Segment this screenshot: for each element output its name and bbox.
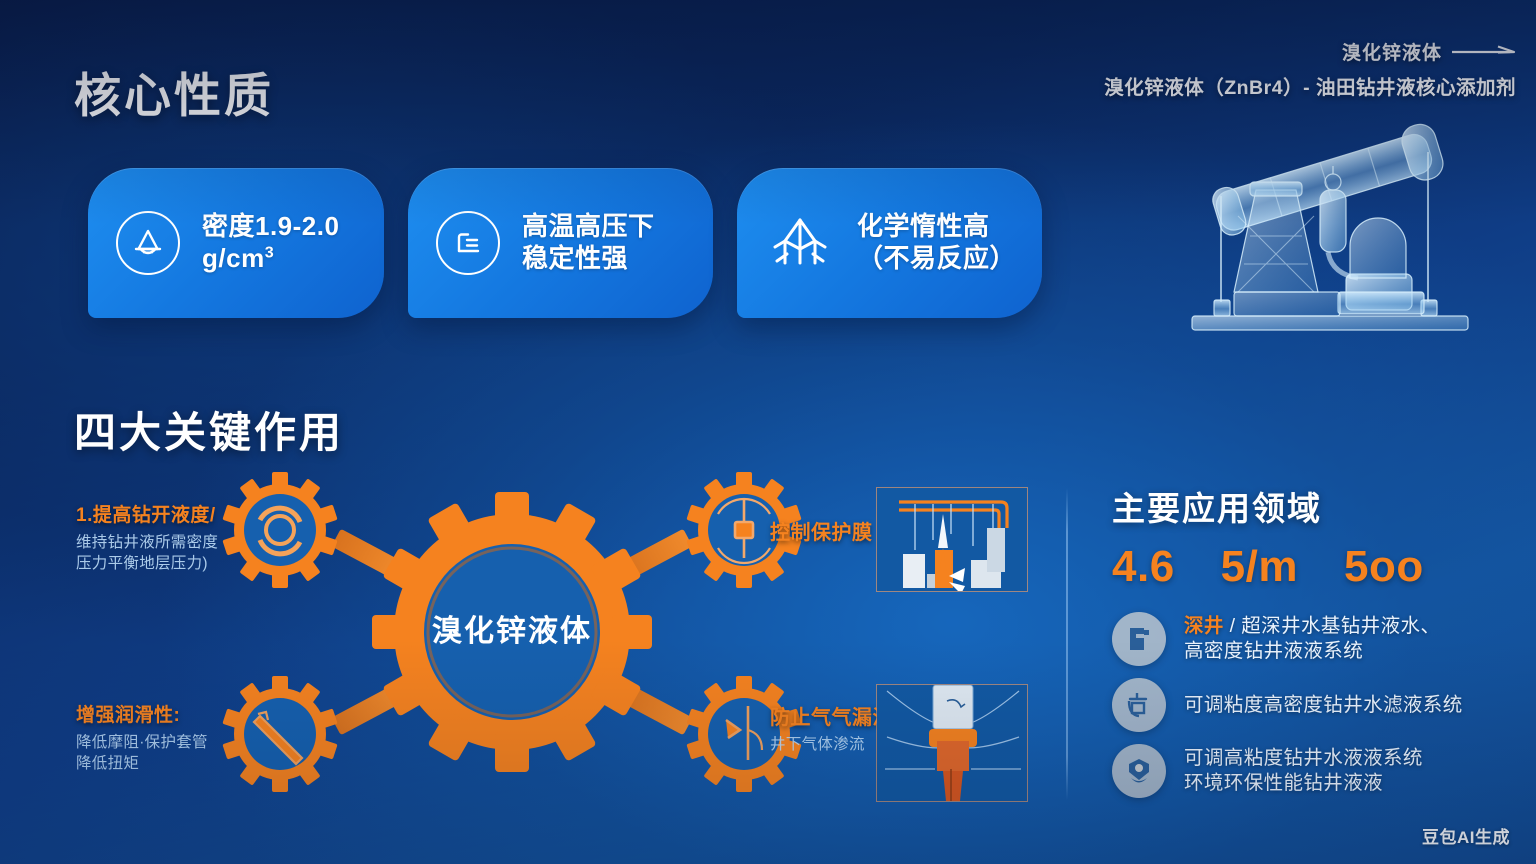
molecule-shield-icon [765,208,835,278]
header-block: 溴化锌液体 溴化锌液体（ZnBr4）- 油田钻井液核心添加剂 [1104,38,1516,100]
application-panel: 主要应用领域 4.6 5/m 5oo 深井 / 超深井水基钻井液水、 高密度 [1112,482,1512,798]
gear-label-1-title: 1.提高钻开液度/ [76,505,218,528]
page-title: 核心性质 [74,57,274,126]
gear-label-1-sub-line1: 维持钻井液所需密度 [76,533,218,554]
property-card-inert[interactable]: 化学惰性高 （不易反应） [737,168,1042,318]
thermal-line-2: 稳定性强 [522,243,655,275]
gear-label-1: 1.提高钻开液度/ 维持钻井液所需密度 压力平衡地层压力) [76,505,218,574]
application-item[interactable]: 可调高粘度钻井水液液系统 环境环保性能钻井液液 [1112,744,1512,798]
application-panel-divider [1066,488,1068,800]
application-item-highlight: 深井 [1184,615,1224,637]
property-card-density[interactable]: 密度1.9-2.0 g/cm3 [88,168,384,318]
gear-label-2-sub-line1: 降低摩阻·保护套管 [76,733,208,754]
eco-shield-icon [1112,744,1166,798]
inert-line-1: 化学惰性高 [857,211,1012,243]
application-item-line1: 可调高粘度钻井水液液系统 [1184,746,1423,771]
infographic-slide: 核心性质 溴化锌液体 溴化锌液体（ZnBr4）- 油田钻井液核心添加剂 [0,0,1536,864]
application-item-line1: / 超深井水基钻井液水、 [1224,615,1440,637]
center-gear: 溴化锌液体 [372,492,652,772]
center-gear-label: 溴化锌液体 [432,615,592,648]
property-card-list: 密度1.9-2.0 g/cm3 高温高压下 稳定性强 [88,168,1042,318]
application-item-text: 可调高粘度钻井水液液系统 环境环保性能钻井液液 [1184,746,1423,796]
droplet-bell-icon [116,211,180,275]
application-stats: 4.6 5/m 5oo [1112,542,1512,592]
application-item-line2: 高密度钻井液液系统 [1184,639,1440,664]
thermal-line-1: 高温高压下 [522,211,655,243]
application-item-list: 深井 / 超深井水基钻井液水、 高密度钻井液液系统 可调粘度高密度钻井水滤液系统 [1112,612,1512,798]
property-card-thermal[interactable]: 高温高压下 稳定性强 [408,168,713,318]
gear-node-1 [222,472,337,588]
tech-panel-1 [876,487,1028,592]
property-card-inert-text: 化学惰性高 （不易反应） [857,211,1012,274]
gear-label-4-sub: 井下气体渗流 [770,735,893,756]
gear-label-4: 防止气气漏浇 井下气体渗流 [770,706,893,756]
gear-label-3: 控制保护膜 [770,521,873,545]
tech-panel-2 [876,684,1028,802]
gear-label-2-sub-line2: 降低扭矩 [76,754,208,775]
property-card-density-text: 密度1.9-2.0 g/cm3 [202,211,354,274]
gear-label-2-sub: 降低摩阻·保护套管 降低扭矩 [76,733,208,775]
application-item-text: 可调粘度高密度钻井水滤液系统 [1184,693,1463,718]
header-brand-row: 溴化锌液体 [1104,38,1516,65]
section-title: 四大关键作用 [74,399,344,460]
application-panel-title: 主要应用领域 [1112,482,1512,530]
arrow-right-icon [1452,45,1516,59]
application-item[interactable]: 深井 / 超深井水基钻井液水、 高密度钻井液液系统 [1112,612,1512,666]
application-stat-3: 5oo [1344,542,1424,592]
drill-rig-icon [1112,612,1166,666]
property-card-thermal-text: 高温高压下 稳定性强 [522,211,655,274]
gear-label-3-title: 控制保护膜 [770,521,873,545]
inert-line-2: （不易反应） [857,243,1012,275]
application-item-text: 深井 / 超深井水基钻井液水、 高密度钻井液液系统 [1184,614,1440,664]
watermark: 豆包AI生成 [1422,823,1510,848]
density-meter-icon [1112,678,1166,732]
gear-label-1-sub: 维持钻井液所需密度 压力平衡地层压力) [76,533,218,575]
gear-label-1-sub-line2: 压力平衡地层压力) [76,554,218,575]
gear-node-2 [222,676,337,792]
application-item-line1: 可调粘度高密度钻井水滤液系统 [1184,693,1463,718]
gear-label-2-title: 增强润滑性: [76,705,208,728]
thermometer-pressure-icon [436,211,500,275]
header-brand: 溴化锌液体 [1342,38,1442,65]
application-stat-2: 5/m [1221,542,1298,592]
pumpjack-illustration [1178,96,1514,344]
gear-label-4-title: 防止气气漏浇 [770,706,893,730]
gear-diagram: 溴化锌液体 [222,462,802,802]
density-exponent: 3 [265,243,274,261]
application-item-line2: 环境环保性能钻井液液 [1184,771,1423,796]
gear-label-2: 增强润滑性: 降低摩阻·保护套管 降低扭矩 [76,705,208,774]
application-stat-1: 4.6 [1112,542,1175,592]
application-item[interactable]: 可调粘度高密度钻井水滤液系统 [1112,678,1512,732]
